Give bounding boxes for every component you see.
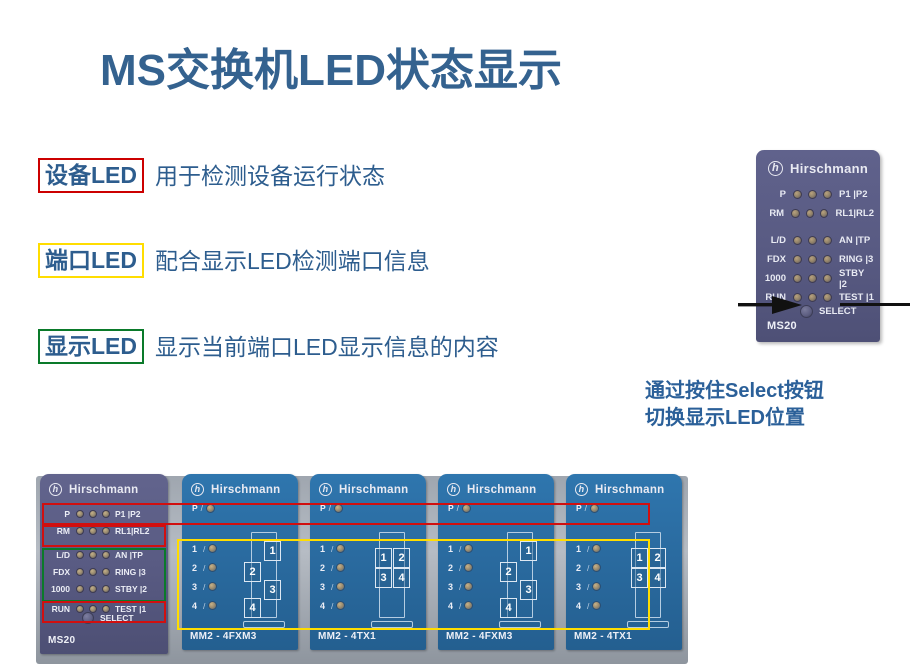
connector-base xyxy=(499,621,541,628)
led-label-left: FDX xyxy=(762,254,790,265)
led-indicator xyxy=(206,504,215,513)
connector-port-number: 2 xyxy=(500,562,517,582)
port-led-row: 2 / xyxy=(576,558,601,577)
device-rack: h Hirschmann P P1 |P2 RM RL1|RL2 xyxy=(36,470,688,666)
led-label-right: RL1|RL2 xyxy=(112,526,165,536)
bullet-item-port-led: 端口LED 配合显示LED检测端口信息 xyxy=(38,243,430,278)
connector-port-number: 4 xyxy=(500,598,517,618)
hirschmann-logo-icon: h xyxy=(575,483,588,496)
port-number: 3 xyxy=(448,582,456,592)
connector-base xyxy=(243,621,285,628)
led-label-left: L/D xyxy=(762,235,790,246)
led-label-left: RM xyxy=(43,526,73,536)
led-row: P P1 |P2 xyxy=(43,505,165,522)
slide-canvas: MS交换机LED状态显示 设备LED 用于检测设备运行状态 端口LED 配合显示… xyxy=(0,0,912,668)
port-number: 1 xyxy=(576,544,584,554)
separator: / xyxy=(331,544,333,554)
led-indicator xyxy=(102,510,110,518)
led-indicator xyxy=(590,504,599,513)
led-indicator xyxy=(793,236,802,245)
port-led-row: 2 / xyxy=(448,558,473,577)
brand-row: h Hirschmann xyxy=(49,483,138,496)
separator: / xyxy=(459,544,461,554)
led-indicator xyxy=(89,551,97,559)
port-led-row: 4 / xyxy=(192,596,217,615)
led-indicator xyxy=(102,527,110,535)
connector-port-number: 4 xyxy=(244,598,261,618)
led-row: 1000 STBY |2 xyxy=(762,269,874,288)
connector-port-number: 3 xyxy=(375,568,392,588)
device-model-label: MM2 - 4TX1 xyxy=(318,631,376,642)
hirschmann-logo-icon: h xyxy=(447,483,460,496)
led-matrix: P P1 |P2 RM RL1|RL2 L/D AN |TP xyxy=(762,185,874,307)
device-model-label: MM2 - 4FXM3 xyxy=(190,631,257,642)
connector-port-number: 1 xyxy=(631,548,648,568)
led-indicator xyxy=(808,274,817,283)
arrow-right-icon xyxy=(738,296,802,314)
separator: / xyxy=(459,563,461,573)
connector-port-number: 4 xyxy=(393,568,410,588)
rack-module-ms20: h Hirschmann P P1 |P2 RM RL1|RL2 xyxy=(40,474,168,654)
led-indicator xyxy=(808,293,817,302)
connector-base xyxy=(627,621,669,628)
port-led-row: 2 / xyxy=(192,558,217,577)
port-led-list: 1 / 2 / 3 / 4 / xyxy=(192,539,217,615)
separator: / xyxy=(587,601,589,611)
bullet-desc-display-led: 显示当前端口LED显示信息的内容 xyxy=(155,334,499,360)
connector-port-number: 2 xyxy=(244,562,261,582)
led-indicator xyxy=(806,209,814,218)
port-led-row: 3 / xyxy=(448,577,473,596)
rack-module-mm2-3: h Hirschmann P / 1 / 2 / xyxy=(438,474,554,650)
separator: / xyxy=(587,544,589,554)
callout-text: 通过按住Select按钮 切换显示LED位置 xyxy=(645,378,824,432)
separator: / xyxy=(331,563,333,573)
bullet-item-display-led: 显示LED 显示当前端口LED显示信息的内容 xyxy=(38,329,499,364)
led-indicator xyxy=(76,585,84,593)
brand-row: h Hirschmann xyxy=(447,483,536,496)
brand-label: Hirschmann xyxy=(69,484,138,496)
led-indicator xyxy=(464,601,473,610)
device-model-label: MM2 - 4FXM3 xyxy=(446,631,513,642)
port-number: 2 xyxy=(576,563,584,573)
brand-label: Hirschmann xyxy=(211,484,280,496)
rack-module-mm2-1: h Hirschmann P / 1 / 2 / xyxy=(182,474,298,650)
port-led-row: 2 / xyxy=(320,558,345,577)
led-indicator xyxy=(76,568,84,576)
separator: / xyxy=(329,503,331,513)
bullet-tag-port-led: 端口LED xyxy=(38,243,144,278)
connector-port-number: 4 xyxy=(649,568,666,588)
connector-port-number: 2 xyxy=(393,548,410,568)
separator: / xyxy=(331,582,333,592)
power-led-row: P / xyxy=(576,503,599,513)
led-indicator xyxy=(89,510,97,518)
led-label-right: STBY |2 xyxy=(835,268,874,290)
led-indicator xyxy=(89,585,97,593)
led-matrix: P P1 |P2 RM RL1|RL2 L/D xyxy=(43,505,165,617)
port-led-row: 3 / xyxy=(192,577,217,596)
bullet-desc-device-led: 用于检测设备运行状态 xyxy=(155,163,385,189)
led-indicator xyxy=(793,274,802,283)
separator: / xyxy=(203,582,205,592)
led-label-left: RUN xyxy=(43,604,73,614)
led-row: P P1 |P2 xyxy=(762,185,874,204)
port-led-list: 1 / 2 / 3 / 4 / xyxy=(320,539,345,615)
brand-row: h Hirschmann xyxy=(575,483,664,496)
led-label-left: 1000 xyxy=(762,273,790,284)
led-label-right: P1 |P2 xyxy=(835,189,874,200)
separator: / xyxy=(203,601,205,611)
port-number: 4 xyxy=(448,601,456,611)
led-indicator xyxy=(592,582,601,591)
led-indicator xyxy=(823,236,832,245)
led-indicator xyxy=(592,601,601,610)
led-indicator xyxy=(208,544,217,553)
power-led-row: P / xyxy=(320,503,343,513)
bullet-desc-port-led: 配合显示LED检测端口信息 xyxy=(155,248,430,274)
led-indicator xyxy=(823,190,832,199)
led-indicator xyxy=(336,601,345,610)
led-indicator xyxy=(464,544,473,553)
connector-port-number: 2 xyxy=(649,548,666,568)
led-label-right: TEST |1 xyxy=(835,292,874,303)
brand-row: h Hirschmann xyxy=(768,161,868,176)
bullet-tag-display-led: 显示LED xyxy=(38,329,144,364)
led-indicator xyxy=(89,568,97,576)
led-label-right: AN |TP xyxy=(112,550,165,560)
device-model-label: MM2 - 4TX1 xyxy=(574,631,632,642)
callout-leader-line xyxy=(840,303,910,306)
led-row: FDX RING |3 xyxy=(43,563,165,580)
hirschmann-logo-icon: h xyxy=(191,483,204,496)
connector-port-number: 3 xyxy=(520,580,537,600)
led-row: L/D AN |TP xyxy=(762,231,874,250)
led-indicator xyxy=(208,563,217,572)
select-button-row[interactable]: SELECT xyxy=(800,305,856,318)
led-indicator xyxy=(820,209,828,218)
led-indicator xyxy=(76,527,84,535)
separator: / xyxy=(459,601,461,611)
led-indicator xyxy=(89,527,97,535)
port-number: 2 xyxy=(320,563,328,573)
port-number: 2 xyxy=(448,563,456,573)
bullet-item-device-led: 设备LED 用于检测设备运行状态 xyxy=(38,158,385,193)
connector-port-number: 1 xyxy=(520,541,537,561)
power-label: P xyxy=(448,503,454,513)
bullet-tag-device-led: 设备LED xyxy=(38,158,144,193)
port-connector-diagram: 1 2 3 4 xyxy=(370,532,414,628)
led-indicator xyxy=(791,209,799,218)
port-number: 1 xyxy=(192,544,200,554)
led-indicator xyxy=(823,255,832,264)
led-row: FDX RING |3 xyxy=(762,250,874,269)
device-model-label: MS20 xyxy=(48,635,75,646)
led-label-right: STBY |2 xyxy=(112,584,165,594)
led-indicator xyxy=(592,544,601,553)
led-indicator xyxy=(823,274,832,283)
brand-row: h Hirschmann xyxy=(191,483,280,496)
led-label-left: P xyxy=(43,509,73,519)
led-indicator xyxy=(336,544,345,553)
led-indicator xyxy=(102,551,110,559)
brand-label: Hirschmann xyxy=(339,484,408,496)
led-label-right: RING |3 xyxy=(835,254,874,265)
port-number: 4 xyxy=(576,601,584,611)
port-number: 3 xyxy=(192,582,200,592)
port-led-row: 1 / xyxy=(576,539,601,558)
power-label: P xyxy=(576,503,582,513)
select-button[interactable] xyxy=(82,612,94,624)
led-indicator xyxy=(808,236,817,245)
port-led-row: 4 / xyxy=(320,596,345,615)
port-led-row: 4 / xyxy=(576,596,601,615)
led-label-left: L/D xyxy=(43,550,73,560)
led-row: 1000 STBY |2 xyxy=(43,580,165,597)
led-row: RM RL1|RL2 xyxy=(43,522,165,539)
separator: / xyxy=(587,582,589,592)
port-number: 1 xyxy=(448,544,456,554)
separator: / xyxy=(203,544,205,554)
led-row: RM RL1|RL2 xyxy=(762,204,874,223)
brand-row: h Hirschmann xyxy=(319,483,408,496)
connector-port-number: 3 xyxy=(264,580,281,600)
port-number: 3 xyxy=(576,582,584,592)
led-indicator xyxy=(464,582,473,591)
led-indicator xyxy=(592,563,601,572)
led-indicator xyxy=(823,293,832,302)
brand-label: Hirschmann xyxy=(790,161,868,176)
port-led-list: 1 / 2 / 3 / 4 / xyxy=(448,539,473,615)
port-led-row: 3 / xyxy=(320,577,345,596)
hirschmann-logo-icon: h xyxy=(49,483,62,496)
port-number: 2 xyxy=(192,563,200,573)
power-led-row: P / xyxy=(192,503,215,513)
led-label-right: RING |3 xyxy=(112,567,165,577)
separator: / xyxy=(587,563,589,573)
led-label-left: P xyxy=(762,189,790,200)
power-led-row: P / xyxy=(448,503,471,513)
rack-module-mm2-4: h Hirschmann P / 1 / 2 / xyxy=(566,474,682,650)
select-label: SELECT xyxy=(100,613,134,623)
port-number: 4 xyxy=(320,601,328,611)
page-title: MS交换机LED状态显示 xyxy=(100,34,562,98)
port-connector-diagram: 1 2 3 4 xyxy=(242,532,286,628)
callout-line-2: 切换显示LED位置 xyxy=(645,405,824,432)
connector-base xyxy=(371,621,413,628)
led-indicator xyxy=(464,563,473,572)
brand-label: Hirschmann xyxy=(595,484,664,496)
led-indicator xyxy=(102,585,110,593)
led-indicator xyxy=(102,568,110,576)
led-indicator xyxy=(76,551,84,559)
hirschmann-logo-icon: h xyxy=(768,161,783,176)
select-button-row[interactable]: SELECT xyxy=(82,612,134,624)
led-indicator xyxy=(334,504,343,513)
led-indicator xyxy=(462,504,471,513)
port-led-row: 1 / xyxy=(320,539,345,558)
separator: / xyxy=(585,503,587,513)
port-led-row: 4 / xyxy=(448,596,473,615)
led-indicator xyxy=(336,563,345,572)
device-model-label: MS20 xyxy=(767,320,797,332)
rack-module-mm2-2: h Hirschmann P / 1 / 2 / xyxy=(310,474,426,650)
led-indicator xyxy=(208,582,217,591)
led-indicator xyxy=(808,190,817,199)
led-label-left: RM xyxy=(762,208,788,219)
power-label: P xyxy=(320,503,326,513)
led-indicator xyxy=(336,582,345,591)
led-label-right: AN |TP xyxy=(835,235,874,246)
select-label: SELECT xyxy=(819,306,856,317)
hirschmann-logo-icon: h xyxy=(319,483,332,496)
port-led-row: 1 / xyxy=(448,539,473,558)
led-label-right: RL1|RL2 xyxy=(831,208,874,219)
separator: / xyxy=(203,563,205,573)
port-number: 1 xyxy=(320,544,328,554)
separator: / xyxy=(459,582,461,592)
port-number: 4 xyxy=(192,601,200,611)
connector-port-number: 1 xyxy=(375,548,392,568)
connector-port-number: 3 xyxy=(631,568,648,588)
led-indicator xyxy=(208,601,217,610)
brand-label: Hirschmann xyxy=(467,484,536,496)
led-indicator xyxy=(793,190,802,199)
separator: / xyxy=(201,503,203,513)
port-connector-diagram: 1 2 3 4 xyxy=(626,532,670,628)
separator: / xyxy=(331,601,333,611)
callout-line-1: 通过按住Select按钮 xyxy=(645,378,824,405)
led-label-left: FDX xyxy=(43,567,73,577)
port-connector-diagram: 1 2 3 4 xyxy=(498,532,542,628)
led-indicator xyxy=(808,255,817,264)
separator: / xyxy=(457,503,459,513)
connector-port-number: 1 xyxy=(264,541,281,561)
port-led-list: 1 / 2 / 3 / 4 / xyxy=(576,539,601,615)
port-led-row: 3 / xyxy=(576,577,601,596)
port-number: 3 xyxy=(320,582,328,592)
power-label: P xyxy=(192,503,198,513)
led-label-right: P1 |P2 xyxy=(112,509,165,519)
led-indicator xyxy=(76,510,84,518)
port-led-row: 1 / xyxy=(192,539,217,558)
led-row: L/D AN |TP xyxy=(43,546,165,563)
led-label-left: 1000 xyxy=(43,584,73,594)
led-indicator xyxy=(793,255,802,264)
